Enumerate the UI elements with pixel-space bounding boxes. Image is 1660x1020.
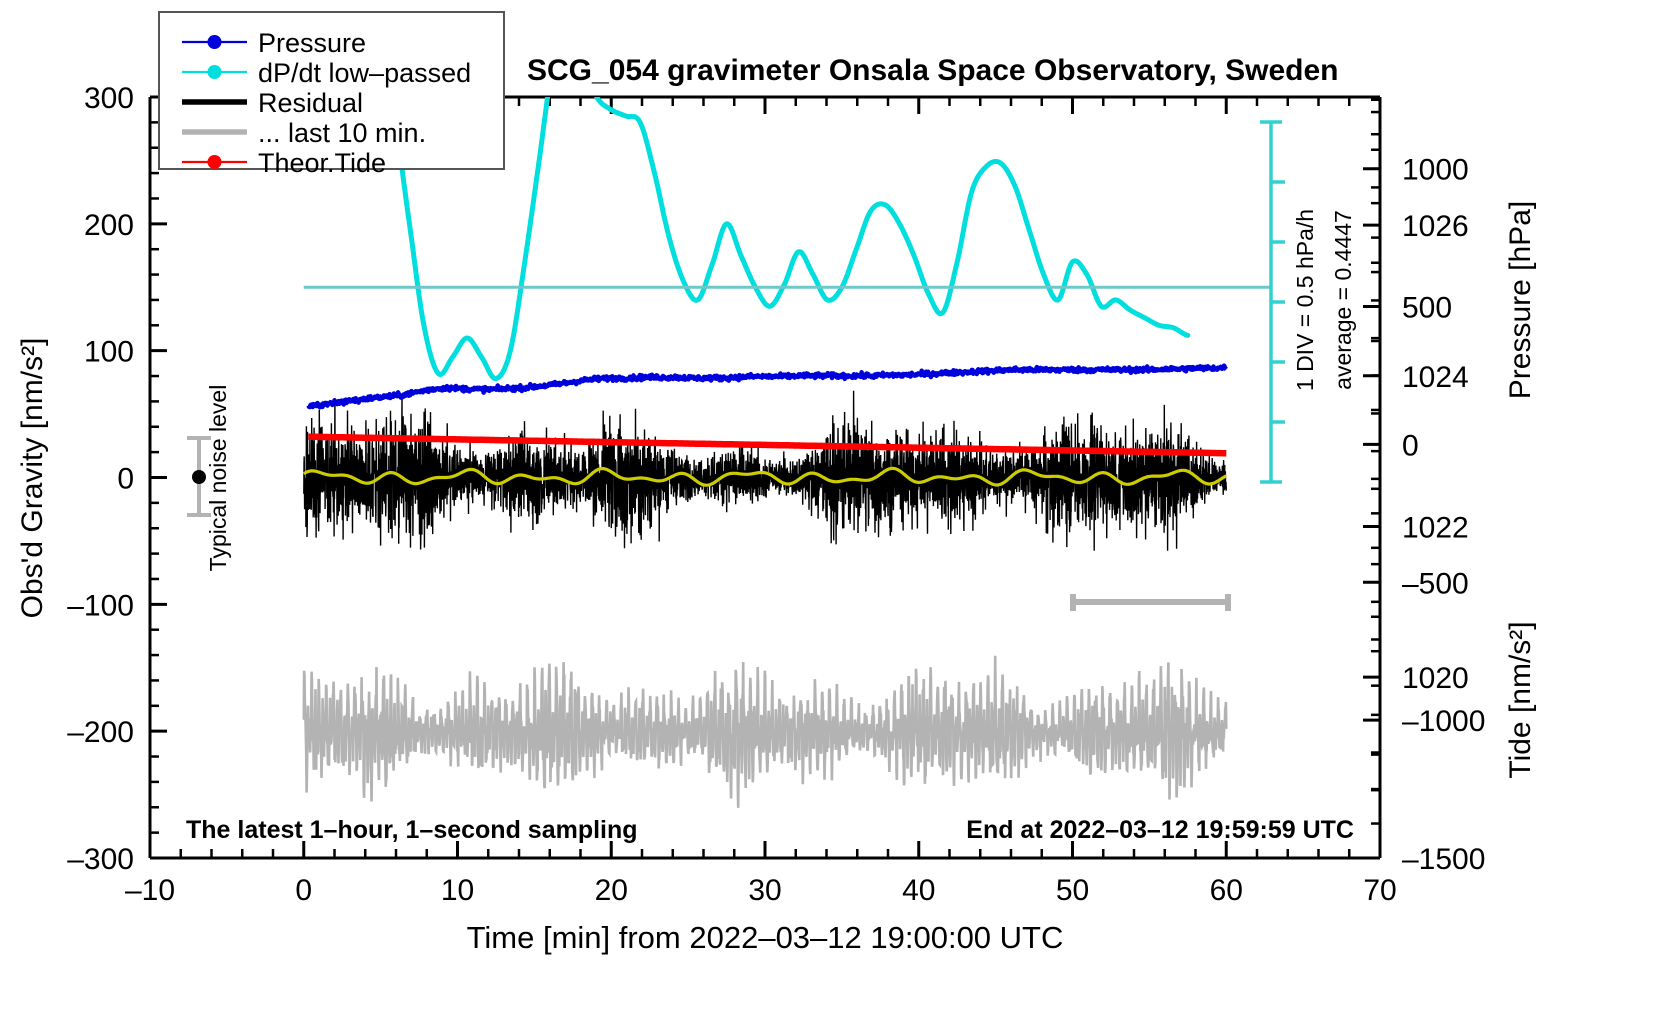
pressure-tick-label: 1020 bbox=[1402, 662, 1469, 695]
legend-label: Pressure bbox=[258, 28, 366, 58]
x-tick-label: 70 bbox=[1363, 874, 1396, 907]
x-tick-label: 50 bbox=[1056, 874, 1089, 907]
chart-page: 3002001000–100–200–300 –1001020304050607… bbox=[0, 0, 1660, 1020]
y-tick-label: 0 bbox=[117, 463, 134, 496]
y-tick-label: 100 bbox=[84, 336, 134, 369]
pressure-tick-label: 1024 bbox=[1402, 361, 1469, 394]
average-label: average = 0.4447 bbox=[1330, 210, 1356, 390]
legend-marker-dot bbox=[208, 155, 222, 169]
x-tick-label: –10 bbox=[125, 874, 175, 907]
y-tick-label: –300 bbox=[67, 843, 134, 876]
gravimeter-chart: 3002001000–100–200–300 –1001020304050607… bbox=[0, 0, 1660, 1020]
y-axis-left-title: Obs'd Gravity [nm/s²] bbox=[16, 338, 49, 619]
x-tick-label: 20 bbox=[595, 874, 628, 907]
tide-tick-label: 0 bbox=[1402, 429, 1419, 462]
footer-left-text: The latest 1–hour, 1–second sampling bbox=[186, 816, 638, 844]
pressure-tick-label: 1022 bbox=[1402, 511, 1469, 544]
y-tick-label: 200 bbox=[84, 209, 134, 242]
y-axis-right-tide-title: Tide [nm/s²] bbox=[1504, 621, 1537, 778]
legend-label: Theor.Tide bbox=[258, 148, 386, 178]
legend-label: ... last 10 min. bbox=[258, 118, 426, 148]
legend-marker-dot bbox=[208, 65, 222, 79]
chart-legend: PressuredP/dt low–passedResidual... last… bbox=[159, 12, 504, 178]
tide-tick-label: 500 bbox=[1402, 292, 1452, 325]
tide-tick-label: –1500 bbox=[1402, 843, 1485, 876]
y-tick-label: –200 bbox=[67, 716, 134, 749]
y-tick-label: –100 bbox=[67, 589, 134, 622]
x-tick-label: 10 bbox=[441, 874, 474, 907]
typical-noise-label: Typical noise level bbox=[205, 385, 231, 572]
legend-marker-dot bbox=[208, 35, 222, 49]
tide-tick-label: 1000 bbox=[1402, 154, 1469, 187]
legend-label: Residual bbox=[258, 88, 363, 118]
x-tick-label: 40 bbox=[902, 874, 935, 907]
div-scale-label: 1 DIV = 0.5 hPa/h bbox=[1292, 209, 1318, 391]
pressure-tick-label: 1026 bbox=[1402, 210, 1469, 243]
x-tick-label: 30 bbox=[748, 874, 781, 907]
x-axis-title: Time [min] from 2022–03–12 19:00:00 UTC bbox=[467, 920, 1064, 955]
x-tick-label: 60 bbox=[1210, 874, 1243, 907]
chart-title: SCG_054 gravimeter Onsala Space Observat… bbox=[527, 54, 1339, 87]
tide-tick-label: –500 bbox=[1402, 567, 1469, 600]
tide-tick-label: –1000 bbox=[1402, 705, 1485, 738]
legend-label: dP/dt low–passed bbox=[258, 58, 471, 88]
y-axis-right-pressure-title: Pressure [hPa] bbox=[1504, 201, 1537, 399]
x-tick-label: 0 bbox=[295, 874, 312, 907]
footer-right-text: End at 2022–03–12 19:59:59 UTC bbox=[966, 816, 1354, 844]
y-tick-label: 300 bbox=[84, 82, 134, 115]
